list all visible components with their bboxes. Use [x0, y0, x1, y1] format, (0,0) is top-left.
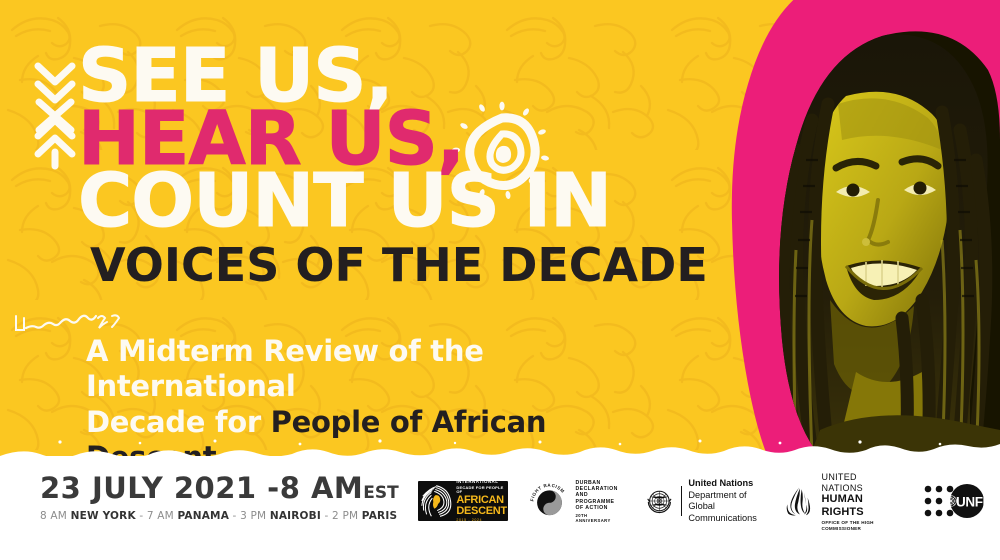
- logo-durban-declaration: FIGHT RACISM DURBAN DECLARATION AND PROG…: [530, 479, 622, 523]
- tz-city-0: NEW YORK: [71, 510, 136, 522]
- chevron-arrow-icon: [28, 52, 82, 170]
- fight-racism-icon: FIGHT RACISM: [530, 479, 569, 523]
- event-timezones-line: 8 AM NEW YORK - 7 AM PANAMA - 3 PM NAIRO…: [40, 510, 399, 522]
- tz-city-3: PARIS: [362, 510, 397, 522]
- undgc-line1: United Nations: [688, 478, 762, 490]
- ohchr-line1: UNITED NATIONS: [822, 472, 900, 493]
- un-emblem-icon: [645, 484, 674, 518]
- ohchr-line2: HUMAN RIGHTS: [822, 493, 900, 519]
- ohchr-flame-icon: [784, 483, 814, 519]
- logo-un-human-rights: UNITED NATIONS HUMAN RIGHTS OFFICE OF TH…: [784, 472, 900, 531]
- idpad-line2: DECADE FOR PEOPLE OF: [456, 486, 508, 494]
- tz-time-1: - 7 AM: [136, 510, 178, 522]
- headline-line-4: VOICES OF THE DECADE: [90, 242, 708, 288]
- event-date-text: 23 JULY 2021 -8 AM: [40, 471, 363, 505]
- event-timezone: EST: [363, 483, 398, 503]
- subtitle-line-1: A Midterm Review of the International: [86, 334, 484, 403]
- unfpa-wordmark-text: UNFPA: [956, 495, 1000, 510]
- tz-time-3: - 2 PM: [321, 510, 362, 522]
- durban-line4: OF ACTION: [575, 505, 622, 511]
- portrait-photo-block: [670, 0, 1000, 456]
- tz-city-1: PANAMA: [177, 510, 229, 522]
- logo-un-dgc: United Nations Department of Global Comm…: [645, 478, 762, 525]
- partner-logos: INTERNATIONAL DECADE FOR PEOPLE OF AFRIC…: [418, 472, 1000, 531]
- portrait-image: [670, 0, 1000, 456]
- un-divider: [681, 486, 682, 516]
- idpad-line4: DESCENT: [456, 506, 508, 517]
- event-date: 23 JULY 2021 -8 AMEST: [40, 474, 399, 503]
- tz-time-0: 8 AM: [40, 510, 71, 522]
- un-dgc-wordmark: United Nations Department of Global Comm…: [688, 478, 762, 525]
- ohchr-wordmark: UNITED NATIONS HUMAN RIGHTS OFFICE OF TH…: [822, 472, 900, 531]
- ohchr-line3: OFFICE OF THE HIGH COMMISSIONER: [822, 520, 900, 531]
- torn-paper-edge: [0, 438, 1000, 456]
- durban-wordmark: DURBAN DECLARATION AND PROGRAMME OF ACTI…: [575, 480, 622, 523]
- logo-unfpa: UNFPA: [922, 481, 1000, 521]
- tz-time-2: - 3 PM: [229, 510, 270, 522]
- tz-city-2: NAIROBI: [270, 510, 321, 522]
- logo-african-descent: INTERNATIONAL DECADE FOR PEOPLE OF AFRIC…: [418, 481, 508, 521]
- headline-line-3: COUNT US IN: [78, 171, 708, 232]
- yellow-background-panel: SEE US, HEAR US, COUNT US IN VOICES OF T…: [0, 0, 1000, 456]
- african-descent-wordmark: INTERNATIONAL DECADE FOR PEOPLE OF AFRIC…: [456, 480, 508, 522]
- unfpa-logo-icon: UNFPA: [922, 481, 1000, 521]
- idpad-line5: 2015 - 2024: [456, 519, 508, 523]
- subtitle-line-2-light: Decade for: [86, 405, 271, 439]
- event-date-block: 23 JULY 2021 -8 AMEST 8 AM NEW YORK - 7 …: [40, 474, 399, 522]
- durban-line3: AND PROGRAMME: [575, 492, 622, 505]
- headline-block: SEE US, HEAR US, COUNT US IN VOICES OF T…: [78, 46, 708, 288]
- african-descent-spiral-icon: [418, 482, 454, 520]
- durban-line5: 20TH ANNIVERSARY: [575, 513, 622, 523]
- poster-canvas: SEE US, HEAR US, COUNT US IN VOICES OF T…: [0, 0, 1000, 560]
- undgc-line2: Department of Global: [688, 490, 762, 514]
- undgc-line3: Communications: [688, 513, 762, 525]
